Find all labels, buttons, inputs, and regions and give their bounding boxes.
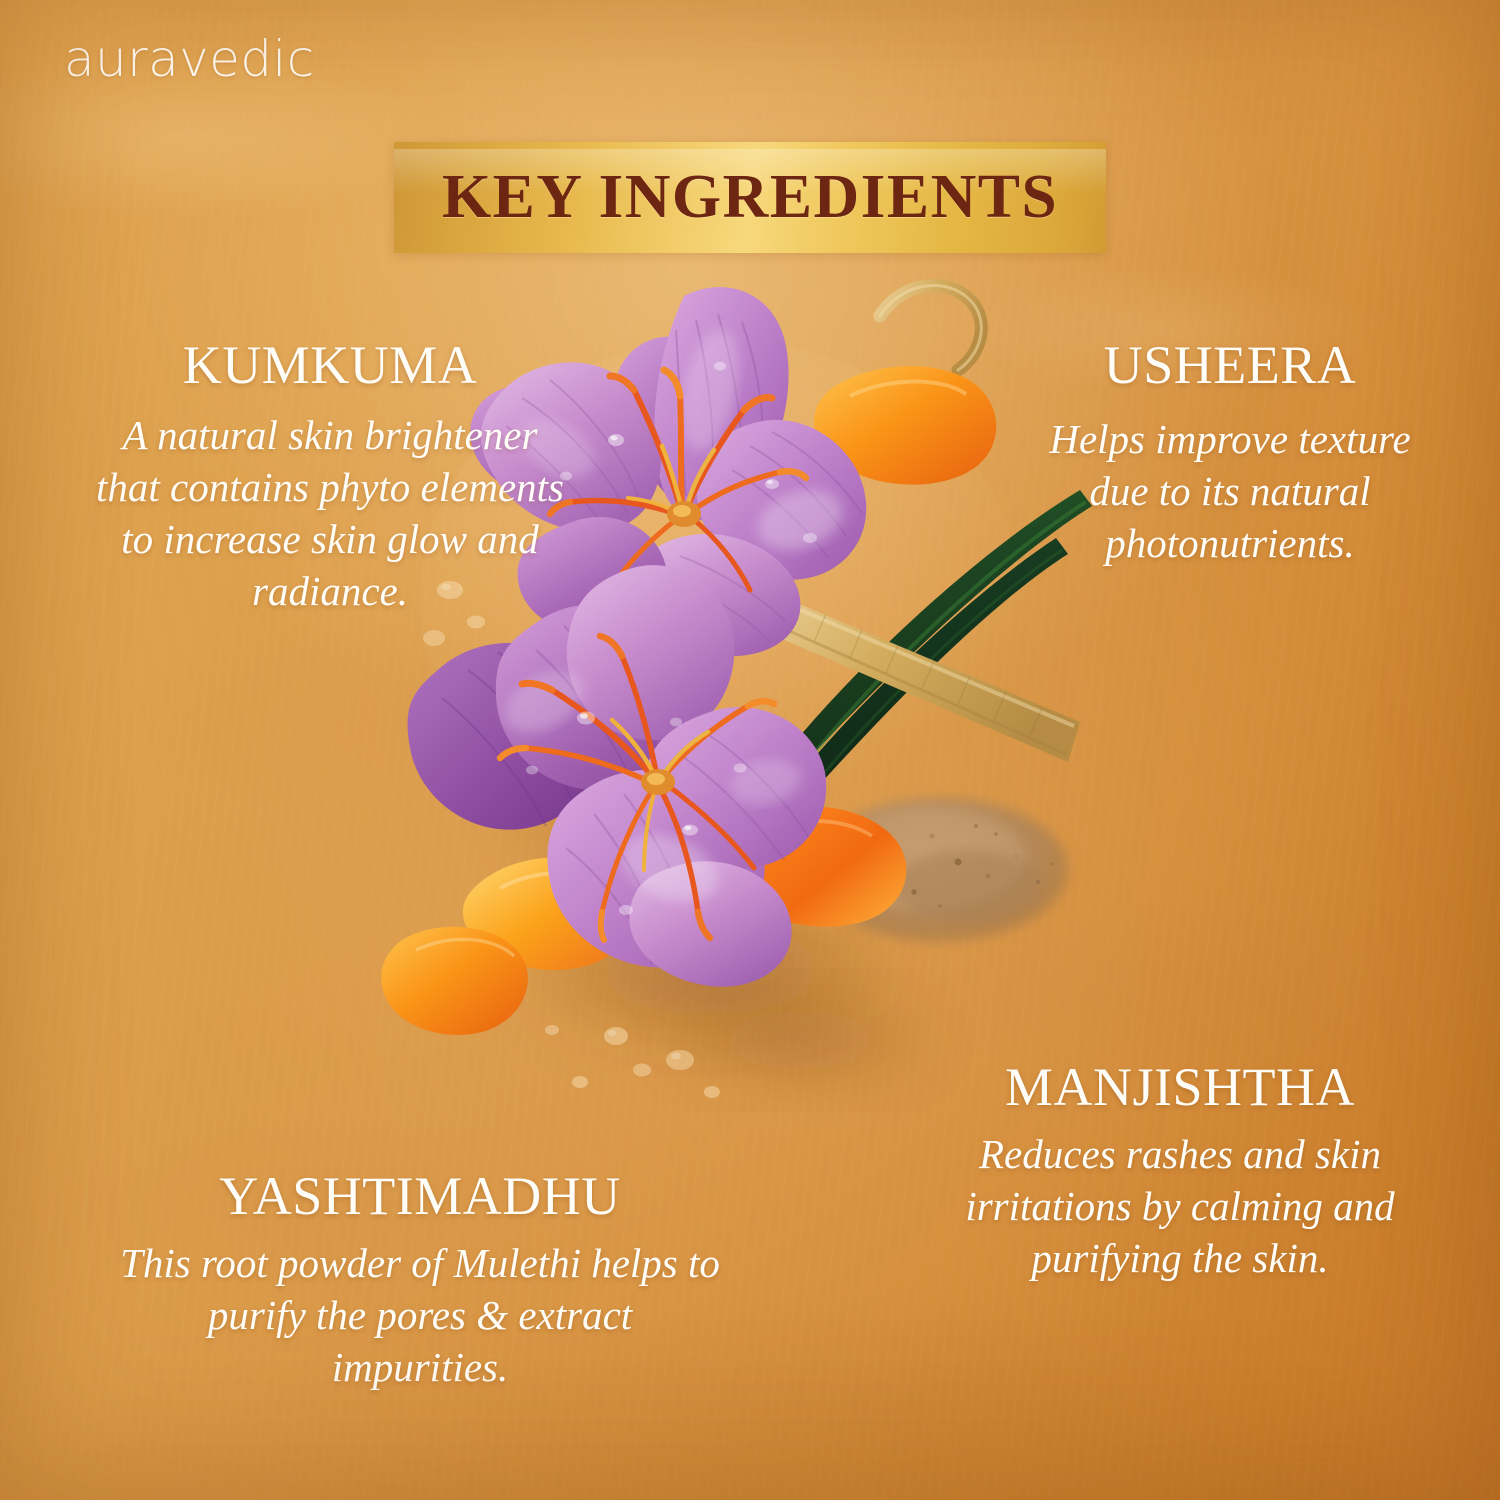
ingredient-usheera: USHEERA Helps improve texture due to its…: [1030, 337, 1430, 569]
water-droplets: [423, 581, 720, 1098]
spice-powder: [812, 798, 1068, 942]
crocus-flower-lower: [408, 565, 827, 987]
ingredient-manjishtha-title: MANJISHTHA: [960, 1059, 1400, 1115]
page-title: KEY INGREDIENTS: [442, 162, 1058, 233]
ingredients-poster: auravedic KEY INGREDIENTS: [0, 0, 1500, 1500]
ingredient-kumkuma-title: KUMKUMA: [90, 337, 570, 393]
ingredient-yashtimadhu-title: YASHTIMADHU: [120, 1168, 720, 1224]
brand-logo: auravedic: [64, 34, 315, 84]
key-ingredients-banner: KEY INGREDIENTS: [394, 142, 1106, 253]
ingredient-usheera-title: USHEERA: [1030, 337, 1430, 393]
ingredient-usheera-description: Helps improve texture due to its natural…: [1030, 413, 1430, 569]
gold-ribbon-band: [752, 590, 1080, 762]
ingredient-kumkuma-description: A natural skin brightener that contains …: [90, 409, 570, 617]
ingredient-manjishtha-description: Reduces rashes and skin irritations by c…: [960, 1128, 1400, 1284]
ingredient-yashtimadhu-description: This root powder of Mulethi helps to pur…: [120, 1237, 720, 1393]
ingredient-manjishtha: MANJISHTHA Reduces rashes and skin irrit…: [960, 1059, 1400, 1284]
gold-ribbon-upper: [850, 281, 994, 443]
ingredient-kumkuma: KUMKUMA A natural skin brightener that c…: [90, 337, 570, 617]
ingredient-yashtimadhu: YASHTIMADHU This root powder of Mulethi …: [120, 1168, 720, 1393]
